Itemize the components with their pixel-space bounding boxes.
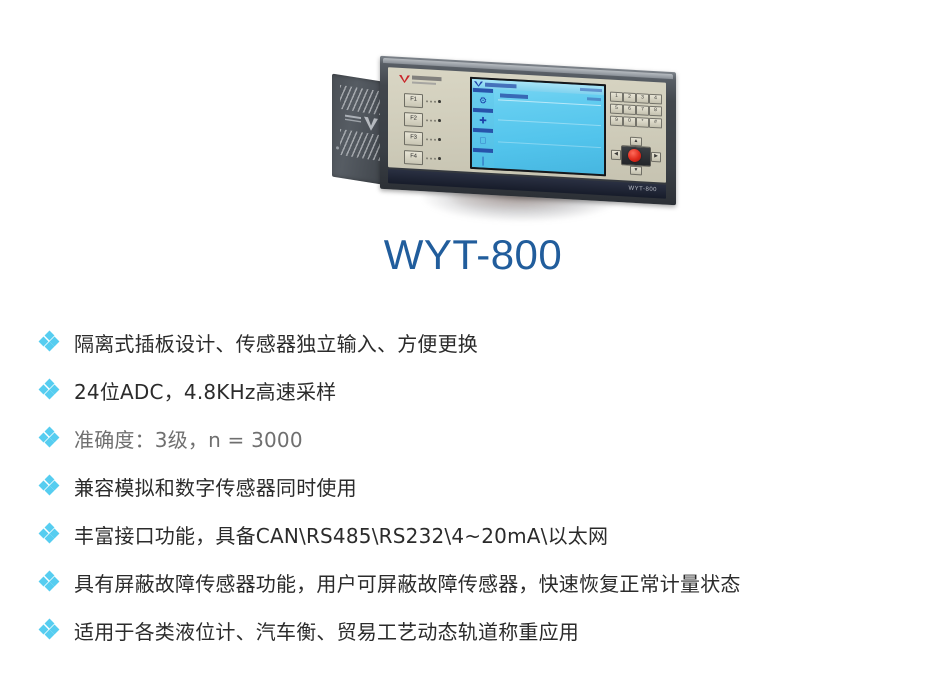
status-leds [426,156,441,160]
function-key-f4[interactable]: F4 [404,150,423,165]
feature-text: 具有屏蔽故障传感器功能，用户可屏蔽故障传感器，快速恢复正常计量状态 [74,568,741,597]
list-item: 丰富接口功能，具备CAN\RS485\RS232\4~20mA\以太网 [0,510,946,558]
lcd-sidebar: ⚙ ✚ ⎕ ❘ [472,88,494,168]
status-leds [426,99,441,103]
list-item: 兼容模拟和数字传感器同时使用 [0,462,946,510]
vent-slots-icon [340,129,380,161]
feature-text: 24位ADC，4.8KHz高速采样 [74,376,336,405]
device-model-label: WYT-800 [628,186,657,194]
keypad-key-8[interactable]: 8 [649,106,662,117]
calibration-icon: ✚ [479,116,488,126]
keypad-key-9[interactable]: 9 [610,116,623,127]
lcd-sidebar-label [473,88,493,93]
keypad-grid: 1 2 3 4 5 6 7 8 9 0 * # [610,92,660,129]
diamond-bullet-icon [38,619,60,641]
lcd-divider [498,119,601,126]
list-item: 具有屏蔽故障传感器功能，用户可屏蔽故障传感器，快速恢复正常计量状态 [0,558,946,606]
feature-text: 准确度：3级，n = 3000 [74,424,303,453]
arrow-left-icon[interactable]: ◀ [611,150,621,161]
sensor-icon: ❘ [479,156,488,166]
keypad-key-3[interactable]: 3 [636,93,649,104]
keypad-key-star[interactable]: * [636,117,649,128]
product-image: F1 F2 F3 F4 [0,0,946,225]
diamond-bullet-icon [38,379,60,401]
screw-icon [336,146,339,149]
arrow-down-icon[interactable]: ▼ [630,166,642,176]
status-leds [426,118,441,122]
keypad-key-7[interactable]: 7 [636,105,649,116]
lcd-sidebar-label [473,108,493,113]
ok-button[interactable] [628,149,641,163]
lcd-divider [498,99,601,106]
lcd-logo-icon [474,80,483,87]
diamond-bullet-icon [38,331,60,353]
device-front-bezel: F1 F2 F3 F4 [380,56,676,206]
lcd-sidebar-item[interactable]: ⎕ [472,128,494,149]
function-key-row: F4 [404,147,464,169]
feature-text: 适用于各类液位计、汽车衡、贸易工艺动态轨道称重应用 [74,616,579,645]
status-leds [426,137,441,141]
keypad-key-1[interactable]: 1 [610,92,623,103]
logo-mark-icon [399,74,410,84]
lcd-inner: ⚙ ✚ ⎕ ❘ [472,79,604,174]
diamond-bullet-icon [38,571,60,593]
keypad-key-5[interactable]: 5 [610,104,623,115]
feature-text: 隔离式插板设计、传感器独立输入、方便更换 [74,328,478,357]
directional-pad: ▲ ◀ ▶ ▼ [610,136,660,175]
display-icon: ⎕ [479,136,488,146]
function-key-f3[interactable]: F3 [404,131,423,146]
lcd-sidebar-item[interactable]: ✚ [472,108,494,129]
brand-logo-icon [399,73,451,87]
list-item: 隔离式插板设计、传感器独立输入、方便更换 [0,318,946,366]
list-item: 准确度：3级，n = 3000 [0,414,946,462]
list-item: 24位ADC，4.8KHz高速采样 [0,366,946,414]
lcd-sidebar-item[interactable]: ⚙ [472,88,494,109]
keypad-key-hash[interactable]: # [649,118,662,129]
logo-wordmark [412,75,451,85]
list-item: 适用于各类液位计、汽车衡、贸易工艺动态轨道称重应用 [0,606,946,654]
diamond-bullet-icon [38,523,60,545]
lcd-sidebar-label [473,128,493,133]
lcd-sidebar-item[interactable]: ❘ [472,148,494,169]
device-control-panel: F1 F2 F3 F4 [388,67,666,183]
function-key-column: F1 F2 F3 F4 [404,90,464,169]
lcd-divider [498,141,601,148]
lcd-sidebar-label [473,148,493,153]
diamond-bullet-icon [38,427,60,449]
lcd-value-readout [587,97,601,101]
lcd-field-highlight [500,93,528,99]
lcd-content-area [494,89,604,174]
function-key-f1[interactable]: F1 [404,93,423,108]
arrow-right-icon[interactable]: ▶ [651,152,661,163]
keypad-key-2[interactable]: 2 [623,92,636,103]
diamond-bullet-icon [38,475,60,497]
numeric-keypad: 1 2 3 4 5 6 7 8 9 0 * # ▲ [610,92,660,175]
keypad-key-6[interactable]: 6 [623,104,636,115]
device-lcd-screen: ⚙ ✚ ⎕ ❘ [470,77,606,177]
page-title: WYT-800 [0,231,946,279]
feature-list: 隔离式插板设计、传感器独立输入、方便更换 24位ADC，4.8KHz高速采样 准… [0,318,946,654]
keypad-key-4[interactable]: 4 [649,94,662,105]
gear-icon: ⚙ [479,96,488,106]
device-illustration: F1 F2 F3 F4 [330,58,680,218]
function-key-f2[interactable]: F2 [404,112,423,127]
feature-text: 兼容模拟和数字传感器同时使用 [74,472,357,501]
feature-text: 丰富接口功能，具备CAN\RS485\RS232\4~20mA\以太网 [74,520,608,549]
vent-slots-icon [340,85,380,115]
lcd-title-status [580,88,602,92]
keypad-key-0[interactable]: 0 [623,116,636,127]
